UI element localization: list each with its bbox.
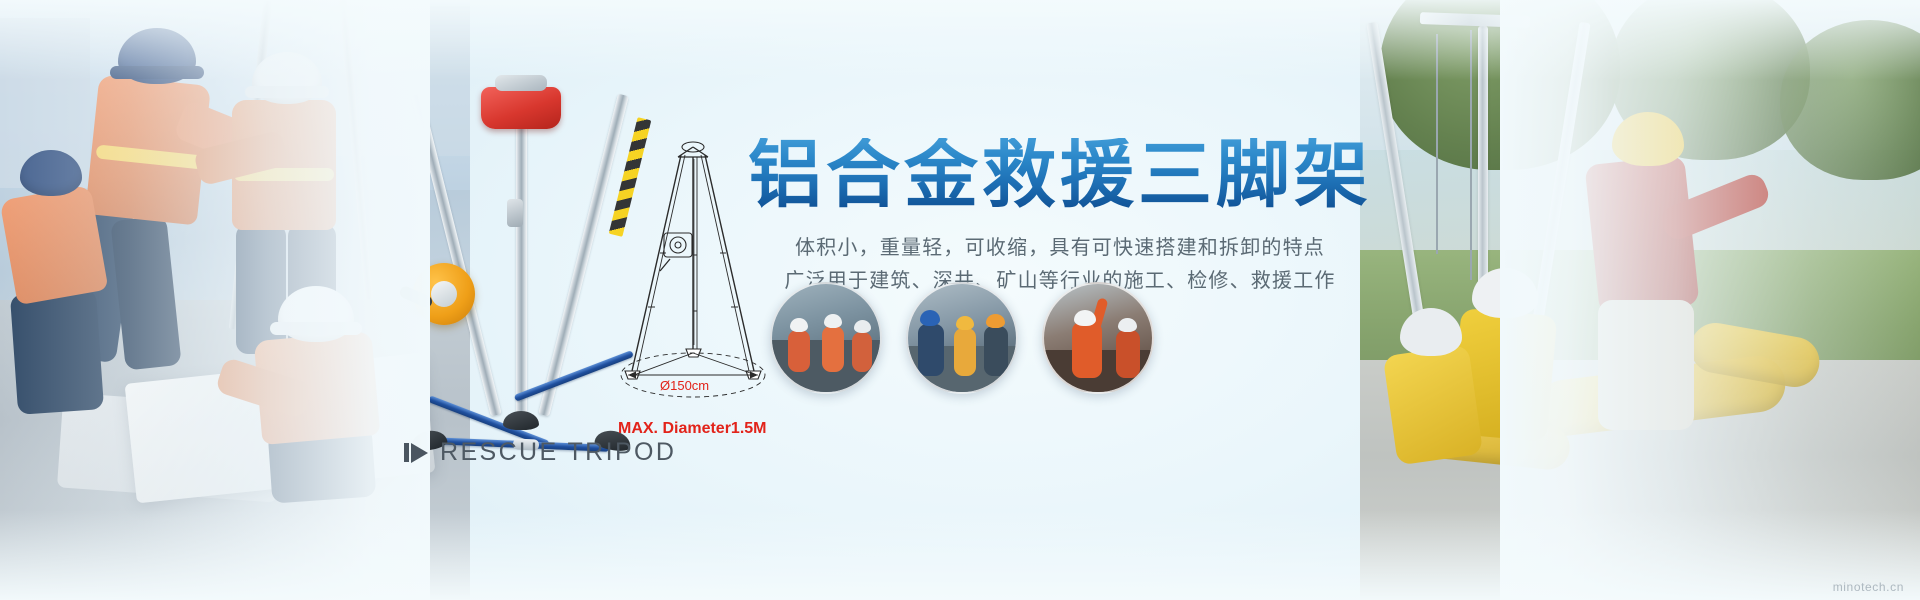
diameter-annotation: Ø150cm (660, 378, 709, 393)
right-photo-rescuer-legs (1598, 300, 1694, 430)
thumbnail-rescuer-signalling-confined-space[interactable] (1042, 282, 1154, 394)
safety-helmet-icon (278, 286, 354, 342)
product-caption-label: RESCUE TRIPOD (440, 438, 676, 467)
thumbnail-workers-inspecting-site[interactable] (906, 282, 1018, 394)
safety-helmet-icon (1074, 310, 1096, 326)
tripod-foot-center (503, 411, 539, 430)
thumbnail-rescue-team-at-manhole[interactable] (770, 282, 882, 394)
thumb-figure (918, 324, 944, 376)
thumb-figure (852, 332, 872, 372)
max-diameter-annotation: MAX. Diameter1.5M (618, 420, 767, 438)
safety-helmet-icon (1118, 318, 1137, 332)
safety-helmet-icon (20, 150, 82, 196)
banner-copy-block: 铝合金救援三脚架 体积小，重量轻，可收缩，具有可快速搭建和拆卸的特点 广泛用于建… (748, 138, 1372, 298)
thumb-figure (1116, 330, 1140, 378)
thumb-figure (954, 328, 976, 376)
thumb-figure (788, 330, 810, 372)
page-title: 铝合金救援三脚架 (748, 138, 1372, 212)
thumb-figure (822, 326, 844, 372)
safety-helmet-icon (790, 318, 808, 332)
right-photo-rescue-rope (1436, 34, 1438, 254)
thumbnail-gallery (770, 282, 1154, 394)
site-watermark: minotech.cn (1833, 580, 1904, 594)
figure-torso (0, 185, 109, 305)
tripod-head-assembly (481, 87, 561, 129)
tripod-leg-center (516, 95, 527, 413)
subtitle-line-1: 体积小，重量轻，可收缩，具有可快速搭建和拆卸的特点 (748, 232, 1372, 265)
product-banner: RESCUE TRIPOD (0, 0, 1920, 600)
figure-leg (10, 289, 104, 415)
right-photo-confined-space-rescue (1360, 0, 1920, 600)
tripod-leg-left (411, 94, 502, 417)
safety-helmet-icon (824, 314, 842, 328)
thumb-figure (984, 326, 1008, 376)
safety-helmet-icon (920, 310, 940, 326)
pulley-icon (507, 199, 523, 227)
product-caption: RESCUE TRIPOD (404, 438, 676, 467)
right-photo-rescue-rope (1470, 30, 1472, 280)
safety-helmet-icon (854, 320, 871, 333)
safety-helmet-icon (986, 314, 1005, 328)
safety-helmet-icon (956, 316, 974, 330)
right-photo-worker-2 (1383, 345, 1483, 466)
play-arrow-icon (404, 443, 428, 463)
